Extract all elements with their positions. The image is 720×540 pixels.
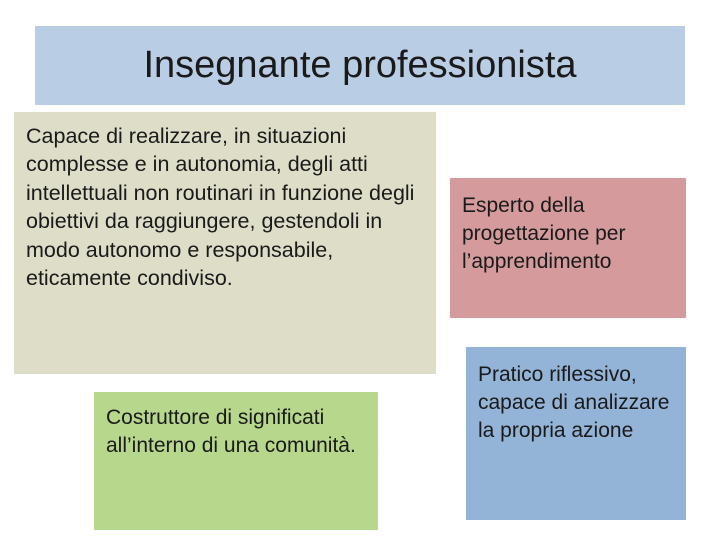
definition-box-costruttore: Costruttore di significati all’interno d… [94, 392, 378, 530]
slide-canvas: Insegnante professionista Capace di real… [0, 0, 720, 540]
definition-box-capace: Capace di realizzare, in situazioni comp… [14, 112, 436, 374]
title-banner: Insegnante professionista [35, 26, 685, 105]
definition-box-capace-text: Capace di realizzare, in situazioni comp… [26, 122, 424, 292]
definition-box-costruttore-text: Costruttore di significati all’interno d… [106, 404, 366, 460]
definition-box-esperto-text: Esperto della progettazione per l’appren… [462, 192, 674, 276]
definition-box-esperto: Esperto della progettazione per l’appren… [450, 178, 686, 318]
definition-box-pratico: Pratico riflessivo, capace di analizzare… [466, 347, 686, 520]
definition-box-pratico-text: Pratico riflessivo, capace di analizzare… [478, 361, 674, 445]
slide-title: Insegnante professionista [143, 45, 576, 87]
